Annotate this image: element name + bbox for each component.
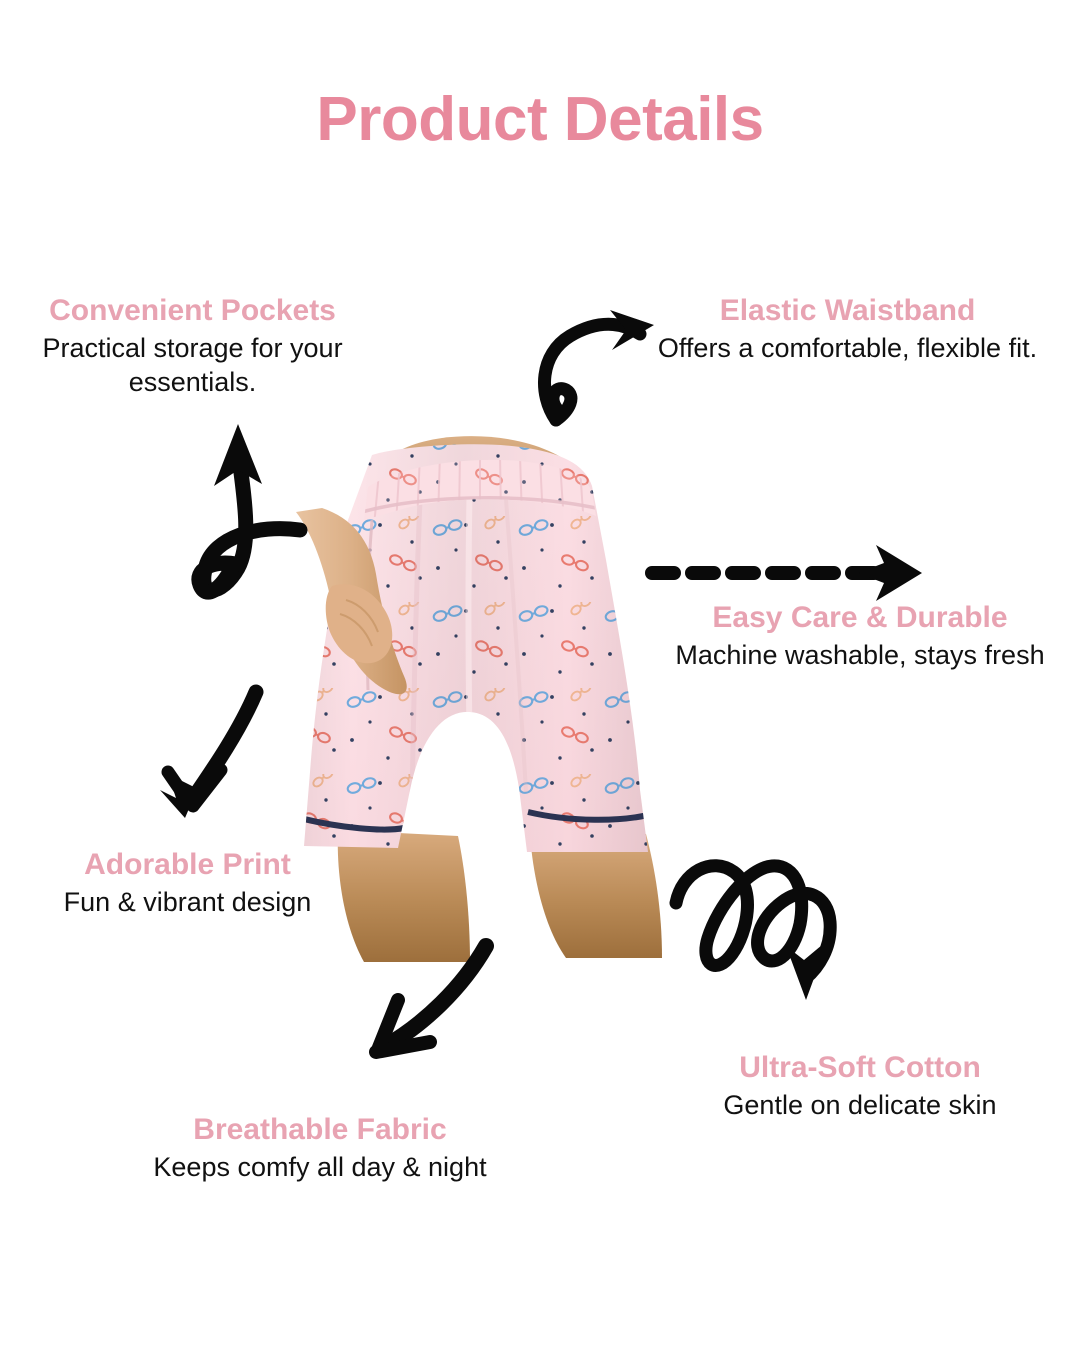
arrow-layer <box>0 0 1080 1350</box>
curved-loop-right-arrow-icon <box>544 310 654 420</box>
sweeping-down-left-arrow-icon <box>376 946 486 1052</box>
product-details-infographic: Product Details <box>0 0 1080 1350</box>
curved-down-left-arrow-icon <box>160 692 256 818</box>
squiggly-down-arrow-icon <box>676 866 830 1000</box>
dashed-right-arrow-icon <box>652 545 922 601</box>
looped-up-arrow-icon <box>199 424 300 592</box>
